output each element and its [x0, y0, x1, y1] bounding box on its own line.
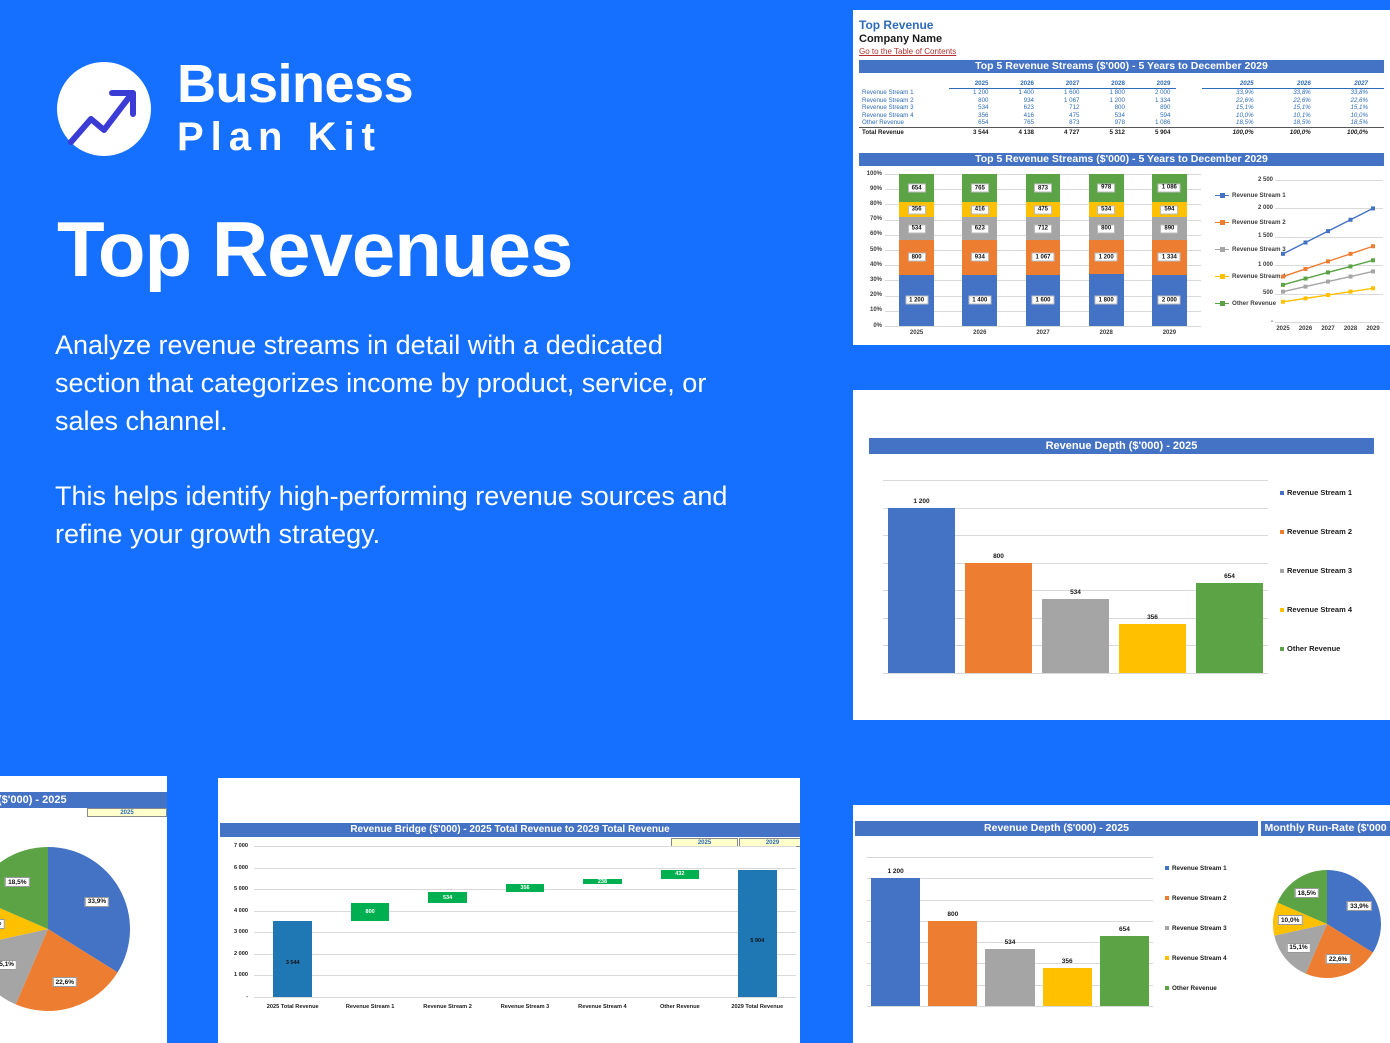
y-tick-label: 2 000: [220, 951, 248, 957]
table-row: Revenue Stream 2 800 934 1 067 1 200 1 3…: [859, 97, 1384, 105]
pie-data-label-3: 15,1%: [1286, 943, 1310, 953]
pie-data-label-2: 22,6%: [53, 977, 77, 987]
bar-value-label: 1 400: [968, 296, 991, 305]
table-of-contents-link[interactable]: Go to the Table of Contents: [859, 47, 956, 56]
y-tick-label: 80%: [861, 201, 882, 207]
y-tick-label: 7 000: [220, 843, 248, 849]
y-tick-label: 30%: [861, 277, 882, 283]
legend-item-4: Revenue Stream 4: [1165, 955, 1227, 962]
legend-swatch: [1280, 647, 1284, 651]
x-tick-label: 2029: [1163, 330, 1176, 336]
bar-value-label: 978: [1097, 183, 1115, 192]
y-tick-label: 5 000: [220, 886, 248, 892]
y-tick-label: 10%: [861, 307, 882, 313]
legend-swatch: [1280, 491, 1284, 495]
legend-item-5: Other Revenue: [1280, 644, 1340, 653]
waterfall-value-label: 356: [520, 885, 529, 891]
y-tick-label: 1 000: [220, 972, 248, 978]
bar-2: [965, 563, 1031, 673]
pie-data-label-1: 33,9%: [1347, 901, 1371, 911]
bar-1: [871, 878, 920, 1006]
bar-value-label: 1 200: [913, 498, 929, 505]
col-year-2027: 2027: [1040, 80, 1085, 89]
gridline: [883, 480, 1268, 481]
pie-data-label-3: 15,1%: [0, 960, 17, 970]
bar-5: [1196, 583, 1262, 673]
bar-value-label: 654: [1119, 926, 1130, 933]
y-tick-label: 3 000: [220, 929, 248, 935]
legend-label: Revenue Stream 1: [1287, 488, 1352, 497]
table-row: Other Revenue 654 765 873 978 1 086 18,5…: [859, 119, 1384, 127]
pie-svg: [0, 826, 167, 1036]
legend-label: Other Revenue: [1172, 985, 1217, 992]
bar-2: [928, 921, 977, 1006]
col-year-2025: 2025: [949, 80, 994, 89]
bar-value-label: 534: [1005, 939, 1016, 946]
y-tick-label: 90%: [861, 186, 882, 192]
col-year-2026: 2026: [994, 80, 1039, 89]
y-tick-label: 60%: [861, 231, 882, 237]
pie-data-label-4: 10,0%: [0, 919, 4, 929]
y-tick-label: 0%: [861, 323, 882, 329]
revenue-table: 2025 2026 2027 2028 2029 2025 2026 2027 …: [859, 80, 1384, 136]
revenue-bridge-chart: -1 0002 0003 0004 0005 0006 0007 0003 54…: [220, 840, 800, 1025]
bar-value-label: 534: [908, 224, 926, 233]
revenue-depth-chart: 1 200800534356654Revenue Stream 1Revenue…: [869, 458, 1374, 683]
waterfall-bar-1: [273, 921, 312, 997]
logo-line-2: Plan Kit: [177, 114, 413, 160]
x-tick-label: 2025 Total Revenue: [267, 1004, 319, 1010]
line-chart: Revenue Stream 1Revenue Stream 2Revenue …: [1215, 170, 1385, 342]
bottom-right-panel: Revenue Depth ($'000) - 2025 Monthly Run…: [853, 805, 1390, 1043]
x-tick-label: Revenue Stream 3: [501, 1004, 550, 1010]
gridline: [885, 326, 1201, 327]
legend-swatch: [1280, 530, 1284, 534]
line-series-svg: [1215, 170, 1385, 342]
bar-value-label: 800: [1097, 224, 1115, 233]
bar-value-label: 712: [1034, 224, 1052, 233]
run-rate-title-left: Run-Rate ($'000) - 2025: [0, 792, 167, 808]
pie-data-label-1: 33,9%: [85, 897, 109, 907]
waterfall-value-label: 534: [443, 895, 452, 901]
y-tick-label: 40%: [861, 262, 882, 268]
year-spin-left[interactable]: 2025: [87, 808, 167, 817]
waterfall-value-label: 800: [366, 909, 375, 915]
y-tick-label: -: [220, 994, 248, 1000]
bar-value-label: 1 086: [1158, 183, 1181, 192]
legend-label: Revenue Stream 4: [1172, 955, 1227, 962]
brand-logo: Business Plan Kit: [57, 57, 413, 160]
bar-value-label: 654: [1224, 573, 1235, 580]
bar-3: [1042, 599, 1108, 673]
y-tick-label: 6 000: [220, 865, 248, 871]
legend-label: Revenue Stream 3: [1172, 925, 1227, 932]
bar-value-label: 416: [971, 205, 989, 214]
pie-data-label-2: 22,6%: [1326, 954, 1350, 964]
gridline: [254, 975, 796, 976]
legend-item-2: Revenue Stream 2: [1280, 527, 1352, 536]
bar-value-label: 623: [971, 224, 989, 233]
bar-value-label: 890: [1160, 224, 1178, 233]
bar-value-label: 800: [993, 553, 1004, 560]
x-tick-label: 2028: [1344, 326, 1357, 332]
x-tick-label: 2026: [973, 330, 986, 336]
growth-arrow-circle-icon: [57, 62, 151, 156]
y-tick-label: 20%: [861, 292, 882, 298]
bar-4: [1043, 968, 1092, 1006]
monthly-run-rate-pie: 33,9%22,6%15,1%10,0%18,5%: [1261, 839, 1390, 1039]
sheet-subtitle: Company Name: [859, 33, 956, 45]
table-row: Revenue Stream 3 534 623 712 800 890 15,…: [859, 104, 1384, 112]
legend-item-5: Other Revenue: [1165, 985, 1217, 992]
x-tick-label: 2027: [1036, 330, 1049, 336]
table-total-row: Total Revenue 3 544 4 138 4 727 5 312 5 …: [859, 127, 1384, 136]
spreadsheet-panel-top: Top Revenue Company Name Go to the Table…: [853, 10, 1390, 345]
bar-value-label: 2 000: [1158, 296, 1181, 305]
bar-3: [985, 949, 1034, 1006]
legend-item-2: Revenue Stream 2: [1165, 895, 1227, 902]
x-tick-label: 2028: [1100, 330, 1113, 336]
revenue-depth-chart-br: 1 200800534356654Revenue Stream 1Revenue…: [857, 839, 1257, 1014]
run-rate-panel-left: Run-Rate ($'000) - 2025 2025 33,9%22,6%1…: [0, 776, 167, 1043]
bar-1: [888, 508, 954, 673]
legend-swatch: [1280, 569, 1284, 573]
hero-paragraph-2: This helps identify high-performing reve…: [55, 478, 755, 554]
waterfall-value-label: 5 904: [750, 938, 764, 944]
x-tick-label: Revenue Stream 1: [346, 1004, 395, 1010]
logo-line-1: Business: [177, 57, 413, 111]
legend-label: Revenue Stream 1: [1172, 865, 1227, 872]
bar-value-label: 654: [908, 184, 926, 193]
table-band-header: Top 5 Revenue Streams ($'000) - 5 Years …: [859, 60, 1384, 73]
legend-swatch: [1165, 956, 1169, 960]
chart-band-header: Top 5 Revenue Streams ($'000) - 5 Years …: [859, 153, 1384, 166]
y-tick-label: 50%: [861, 247, 882, 253]
bar-value-label: 475: [1034, 205, 1052, 214]
col-year-2028: 2028: [1085, 80, 1130, 89]
gridline: [867, 1006, 1153, 1007]
bar-value-label: 534: [1097, 205, 1115, 214]
x-tick-label: 2029 Total Revenue: [731, 1004, 783, 1010]
bar-value-label: 1 334: [1158, 253, 1181, 262]
bar-5: [1100, 936, 1149, 1006]
monthly-run-rate-title: Monthly Run-Rate ($'000: [1261, 821, 1390, 836]
x-tick-label: 2029: [1366, 326, 1379, 332]
revenue-depth-title-br: Revenue Depth ($'000) - 2025: [855, 821, 1258, 836]
page-title: Top Revenues: [57, 210, 572, 288]
x-tick-label: 2025: [1276, 326, 1289, 332]
gridline: [254, 846, 796, 847]
bar-value-label: 594: [1160, 205, 1178, 214]
hero-paragraph-1: Analyze revenue streams in detail with a…: [55, 327, 755, 440]
legend-item-4: Revenue Stream 4: [1280, 605, 1352, 614]
gridline: [867, 857, 1153, 858]
x-tick-label: Other Revenue: [660, 1004, 700, 1010]
waterfall-value-label: 432: [675, 871, 684, 877]
bar-value-label: 1 600: [1031, 296, 1054, 305]
pie-data-label-5: 18,5%: [1294, 888, 1318, 898]
x-tick-label: 2025: [910, 330, 923, 336]
bar-value-label: 765: [971, 184, 989, 193]
bar-value-label: 1 200: [887, 868, 903, 875]
pie-data-label-5: 18,5%: [5, 877, 29, 887]
gridline: [883, 673, 1268, 674]
y-tick-label: 70%: [861, 216, 882, 222]
revenue-depth-panel: Revenue Depth ($'000) - 2025 1 200800534…: [853, 390, 1390, 720]
hero-section: Business Plan Kit Top Revenues Analyze r…: [0, 0, 820, 760]
waterfall-value-label: 238: [598, 879, 607, 885]
x-tick-label: Revenue Stream 2: [423, 1004, 472, 1010]
legend-label: Other Revenue: [1287, 644, 1340, 653]
x-tick-label: 2026: [1299, 326, 1312, 332]
legend-swatch: [1165, 896, 1169, 900]
gridline: [254, 954, 796, 955]
bar-value-label: 1 067: [1031, 253, 1054, 262]
col-pct-2027: 2027: [1317, 80, 1374, 89]
bar-4: [1119, 624, 1185, 673]
waterfall-value-label: 3 544: [286, 960, 300, 966]
y-tick-label: 4 000: [220, 908, 248, 914]
legend-label: Revenue Stream 4: [1287, 605, 1352, 614]
legend-item-3: Revenue Stream 3: [1280, 566, 1352, 575]
bar-value-label: 1 800: [1095, 296, 1118, 305]
stacked-bar-chart: 0%10%20%30%40%50%60%70%80%90%100%1 20080…: [859, 170, 1209, 342]
legend-label: Revenue Stream 2: [1172, 895, 1227, 902]
bar-value-label: 356: [1147, 614, 1158, 621]
sheet-title: Top Revenue: [859, 18, 956, 32]
bar-value-label: 934: [971, 253, 989, 262]
legend-swatch: [1165, 866, 1169, 870]
table-row: Revenue Stream 1 1 200 1 400 1 600 1 800…: [859, 89, 1384, 97]
bar-value-label: 800: [908, 253, 926, 262]
gridline: [254, 868, 796, 869]
legend-label: Revenue Stream 2: [1287, 527, 1352, 536]
x-tick-label: 2027: [1321, 326, 1334, 332]
col-year-2029: 2029: [1131, 80, 1176, 89]
bar-value-label: 873: [1034, 184, 1052, 193]
waterfall-bar-7: [738, 870, 777, 997]
bar-value-label: 1 200: [1095, 253, 1118, 262]
revenue-bridge-panel: Revenue Bridge ($'000) - 2025 Total Reve…: [218, 778, 800, 1043]
y-tick-label: 100%: [861, 171, 882, 177]
pie-svg: [1261, 839, 1390, 1039]
bar-value-label: 534: [1070, 589, 1081, 596]
bar-value-label: 356: [908, 205, 926, 214]
revenue-depth-title: Revenue Depth ($'000) - 2025: [869, 438, 1374, 454]
legend-item-1: Revenue Stream 1: [1280, 488, 1352, 497]
run-rate-pie-left: 33,9%22,6%15,1%10,0%18,5%: [0, 826, 167, 1036]
pie-data-label-4: 10,0%: [1278, 915, 1302, 925]
legend-item-3: Revenue Stream 3: [1165, 925, 1227, 932]
gridline: [254, 932, 796, 933]
bar-value-label: 1 200: [905, 296, 928, 305]
legend-swatch: [1280, 608, 1284, 612]
legend-swatch: [1165, 926, 1169, 930]
table-row: Revenue Stream 4 356 416 475 534 594 10,…: [859, 112, 1384, 120]
revenue-bridge-title: Revenue Bridge ($'000) - 2025 Total Reve…: [220, 823, 800, 837]
gridline: [254, 911, 796, 912]
bar-value-label: 356: [1062, 958, 1073, 965]
legend-swatch: [1165, 986, 1169, 990]
table-header-row: 2025 2026 2027 2028 2029 2025 2026 2027: [859, 80, 1384, 89]
bar-value-label: 800: [947, 911, 958, 918]
gridline: [254, 997, 796, 998]
legend-label: Revenue Stream 3: [1287, 566, 1352, 575]
col-pct-2026: 2026: [1260, 80, 1317, 89]
col-pct-2025: 2025: [1202, 80, 1259, 89]
x-tick-label: Revenue Stream 4: [578, 1004, 627, 1010]
legend-item-1: Revenue Stream 1: [1165, 865, 1227, 872]
